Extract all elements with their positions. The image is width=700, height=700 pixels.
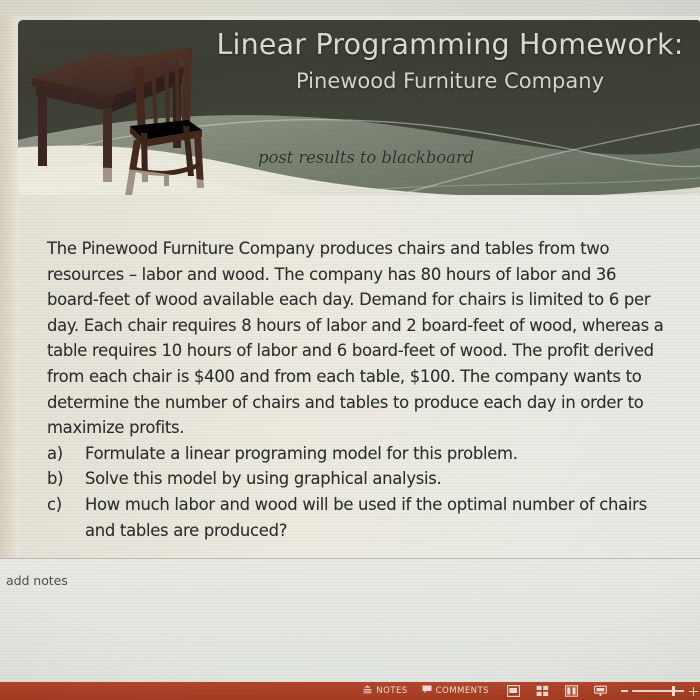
zoom-slider[interactable] bbox=[621, 687, 698, 696]
zoom-handle[interactable] bbox=[672, 686, 675, 696]
notes-icon bbox=[363, 685, 372, 697]
list-marker: b) bbox=[47, 466, 85, 492]
zoom-track[interactable] bbox=[632, 690, 684, 692]
slide-banner bbox=[18, 20, 700, 195]
zoom-out-button[interactable] bbox=[621, 690, 628, 692]
view-buttons bbox=[507, 685, 607, 697]
notes-pane[interactable]: add notes bbox=[0, 558, 700, 683]
notes-button[interactable]: NOTES bbox=[363, 685, 407, 697]
slide-left-margin bbox=[0, 16, 19, 558]
slide-body[interactable]: The Pinewood Furniture Company produces … bbox=[47, 236, 672, 543]
question-list: a) Formulate a linear programing model f… bbox=[47, 441, 672, 543]
status-bar: NOTES COMMENTS bbox=[0, 682, 700, 700]
list-text: How much labor and wood will be used if … bbox=[85, 492, 672, 543]
handwritten-note: post results to blackboard bbox=[258, 148, 474, 167]
comments-label: COMMENTS bbox=[436, 686, 489, 696]
problem-paragraph: The Pinewood Furniture Company produces … bbox=[47, 236, 672, 441]
zoom-in-button[interactable] bbox=[689, 687, 698, 696]
list-text: Solve this model by using graphical anal… bbox=[85, 466, 672, 492]
list-item: a) Formulate a linear programing model f… bbox=[47, 441, 672, 467]
list-item: b) Solve this model by using graphical a… bbox=[47, 466, 672, 492]
notes-label: NOTES bbox=[376, 686, 407, 696]
normal-view-button[interactable] bbox=[507, 685, 520, 697]
list-text: Formulate a linear programing model for … bbox=[85, 441, 672, 467]
list-marker: a) bbox=[47, 441, 85, 467]
reading-view-button[interactable] bbox=[565, 685, 578, 697]
list-marker: c) bbox=[47, 492, 85, 518]
window-top-edge bbox=[0, 0, 700, 16]
slide-canvas[interactable]: Linear Programming Homework: Pinewood Fu… bbox=[0, 16, 700, 558]
slide-sorter-view-button[interactable] bbox=[536, 685, 549, 697]
slide-show-view-button[interactable] bbox=[594, 685, 607, 697]
add-notes-placeholder[interactable]: add notes bbox=[6, 573, 68, 588]
screen-photo: Linear Programming Homework: Pinewood Fu… bbox=[0, 0, 700, 700]
comments-button[interactable]: COMMENTS bbox=[422, 685, 489, 697]
comments-icon bbox=[422, 685, 432, 697]
list-item: c) How much labor and wood will be used … bbox=[47, 492, 672, 543]
